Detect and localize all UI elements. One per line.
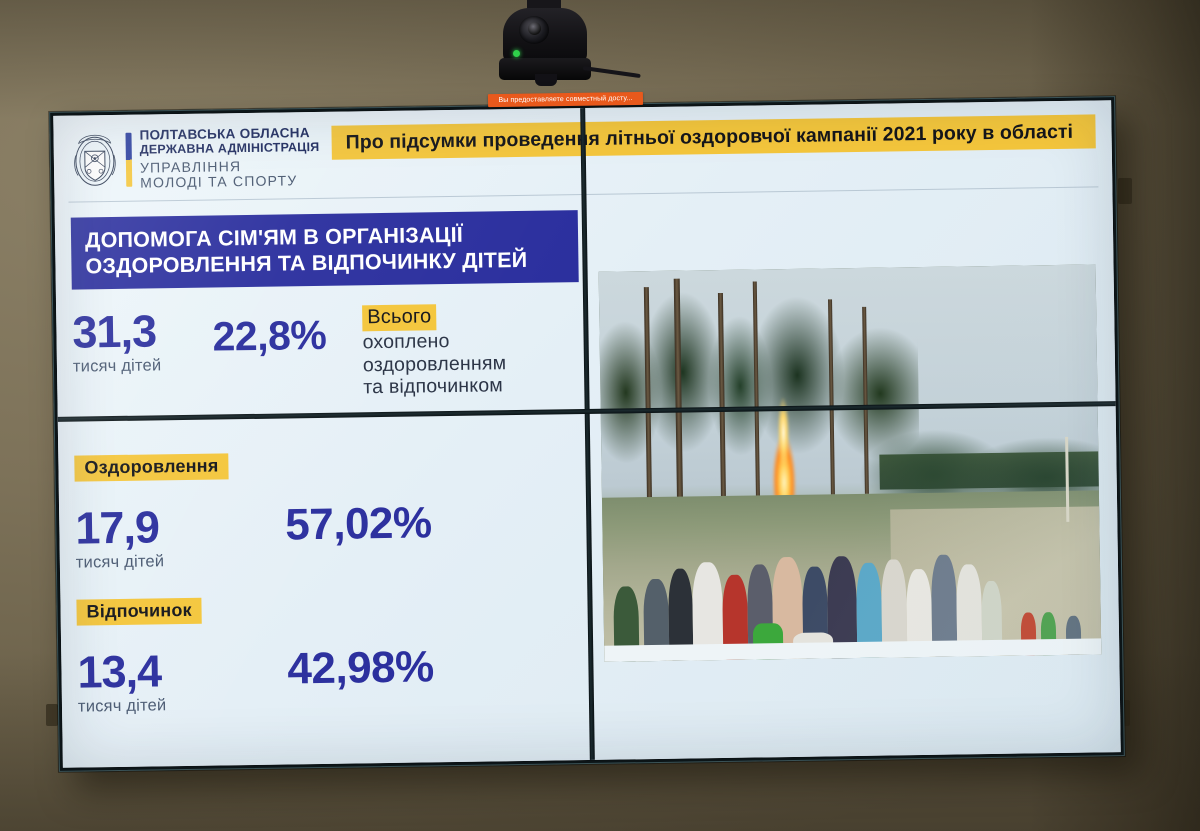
rest-stat-row: 13,4 тисяч дітей 42,98% [77,636,587,716]
total-stat-row: 31,3 тисяч дітей 22,8% Всього охоплено о… [72,296,583,420]
room-scene: ПОЛТАВСЬКА ОБЛАСНА ДЕРЖАВНА АДМІНІСТРАЦІ… [0,0,1200,831]
rest-value-block: 13,4 тисяч дітей [77,640,288,716]
org-line-2: ДЕРЖАВНА АДМІНІСТРАЦІЯ [140,141,320,157]
wall-mount-bracket-top [1118,178,1132,204]
coat-of-arms-icon [71,131,118,190]
rest-tag: Відпочинок [76,598,202,626]
healing-value: 17,9 [75,504,286,550]
organization-logo: ПОЛТАВСЬКА ОБЛАСНА ДЕРЖАВНА АДМІНІСТРАЦІ… [71,126,320,192]
total-note-highlight: Всього [362,304,436,331]
healing-stat-block: Оздоровлення 17,9 тисяч дітей 57,02% [74,448,585,572]
ukraine-flag-bar-icon [125,133,132,187]
ptz-camera [497,0,593,88]
total-value: 31,3 [72,310,213,355]
rest-unit: тисяч дітей [78,694,288,716]
photo-children-group [602,491,1101,662]
dept-line-2: МОЛОДІ ТА СПОРТУ [140,173,320,191]
rest-percent: 42,98% [287,638,434,694]
healing-stat-row: 17,9 тисяч дітей 57,02% [75,492,585,572]
camera-lens-inner [528,22,541,35]
healing-percent: 57,02% [285,494,432,550]
screen-share-notification[interactable]: Вы предоставляете совместный досту... [488,92,643,107]
total-percent: 22,8% [212,299,363,360]
healing-tag: Оздоровлення [74,453,228,481]
total-note: Всього охоплено оздоровленням та відпочи… [362,296,582,399]
organization-text: ПОЛТАВСЬКА ОБЛАСНА ДЕРЖАВНА АДМІНІСТРАЦІ… [139,126,320,191]
camera-bottom-mount [535,74,557,86]
camp-photo [599,264,1102,661]
section-heading-block: ДОПОМОГА СІМ'ЯМ В ОРГАНІЗАЦІЇ ОЗДОРОВЛЕН… [71,210,579,290]
total-value-block: 31,3 тисяч дітей [72,302,213,377]
healing-value-block: 17,9 тисяч дітей [75,496,286,572]
total-unit: тисяч дітей [73,355,213,376]
rest-value: 13,4 [77,648,288,694]
rest-stat-block: Відпочинок 13,4 тисяч дітей 42,98% [76,592,587,716]
total-note-line-4: та відпочинком [363,373,582,399]
healing-unit: тисяч дітей [76,550,286,572]
slide-right-column [584,192,1121,760]
slide-title: Про підсумки проведення літньої оздоровч… [345,120,1073,154]
camera-status-led [513,50,520,57]
photo-bonfire-flame [776,386,790,464]
slide-title-banner: Про підсумки проведення літньої оздоровч… [331,114,1095,159]
total-note-line-3: оздоровленням [363,351,582,377]
slide-left-column: ДОПОМОГА СІМ'ЯМ В ОРГАНІЗАЦІЇ ОЗДОРОВЛЕН… [55,200,592,768]
video-wall[interactable]: ПОЛТАВСЬКА ОБЛАСНА ДЕРЖАВНА АДМІНІСТРАЦІ… [49,96,1125,772]
wall-mount-bracket-left [46,704,58,726]
screen-share-text: Вы предоставляете совместный досту... [498,95,632,104]
video-wall-screen[interactable]: ПОЛТАВСЬКА ОБЛАСНА ДЕРЖАВНА АДМІНІСТРАЦІ… [53,100,1121,768]
total-note-line-2: охоплено [362,328,581,354]
